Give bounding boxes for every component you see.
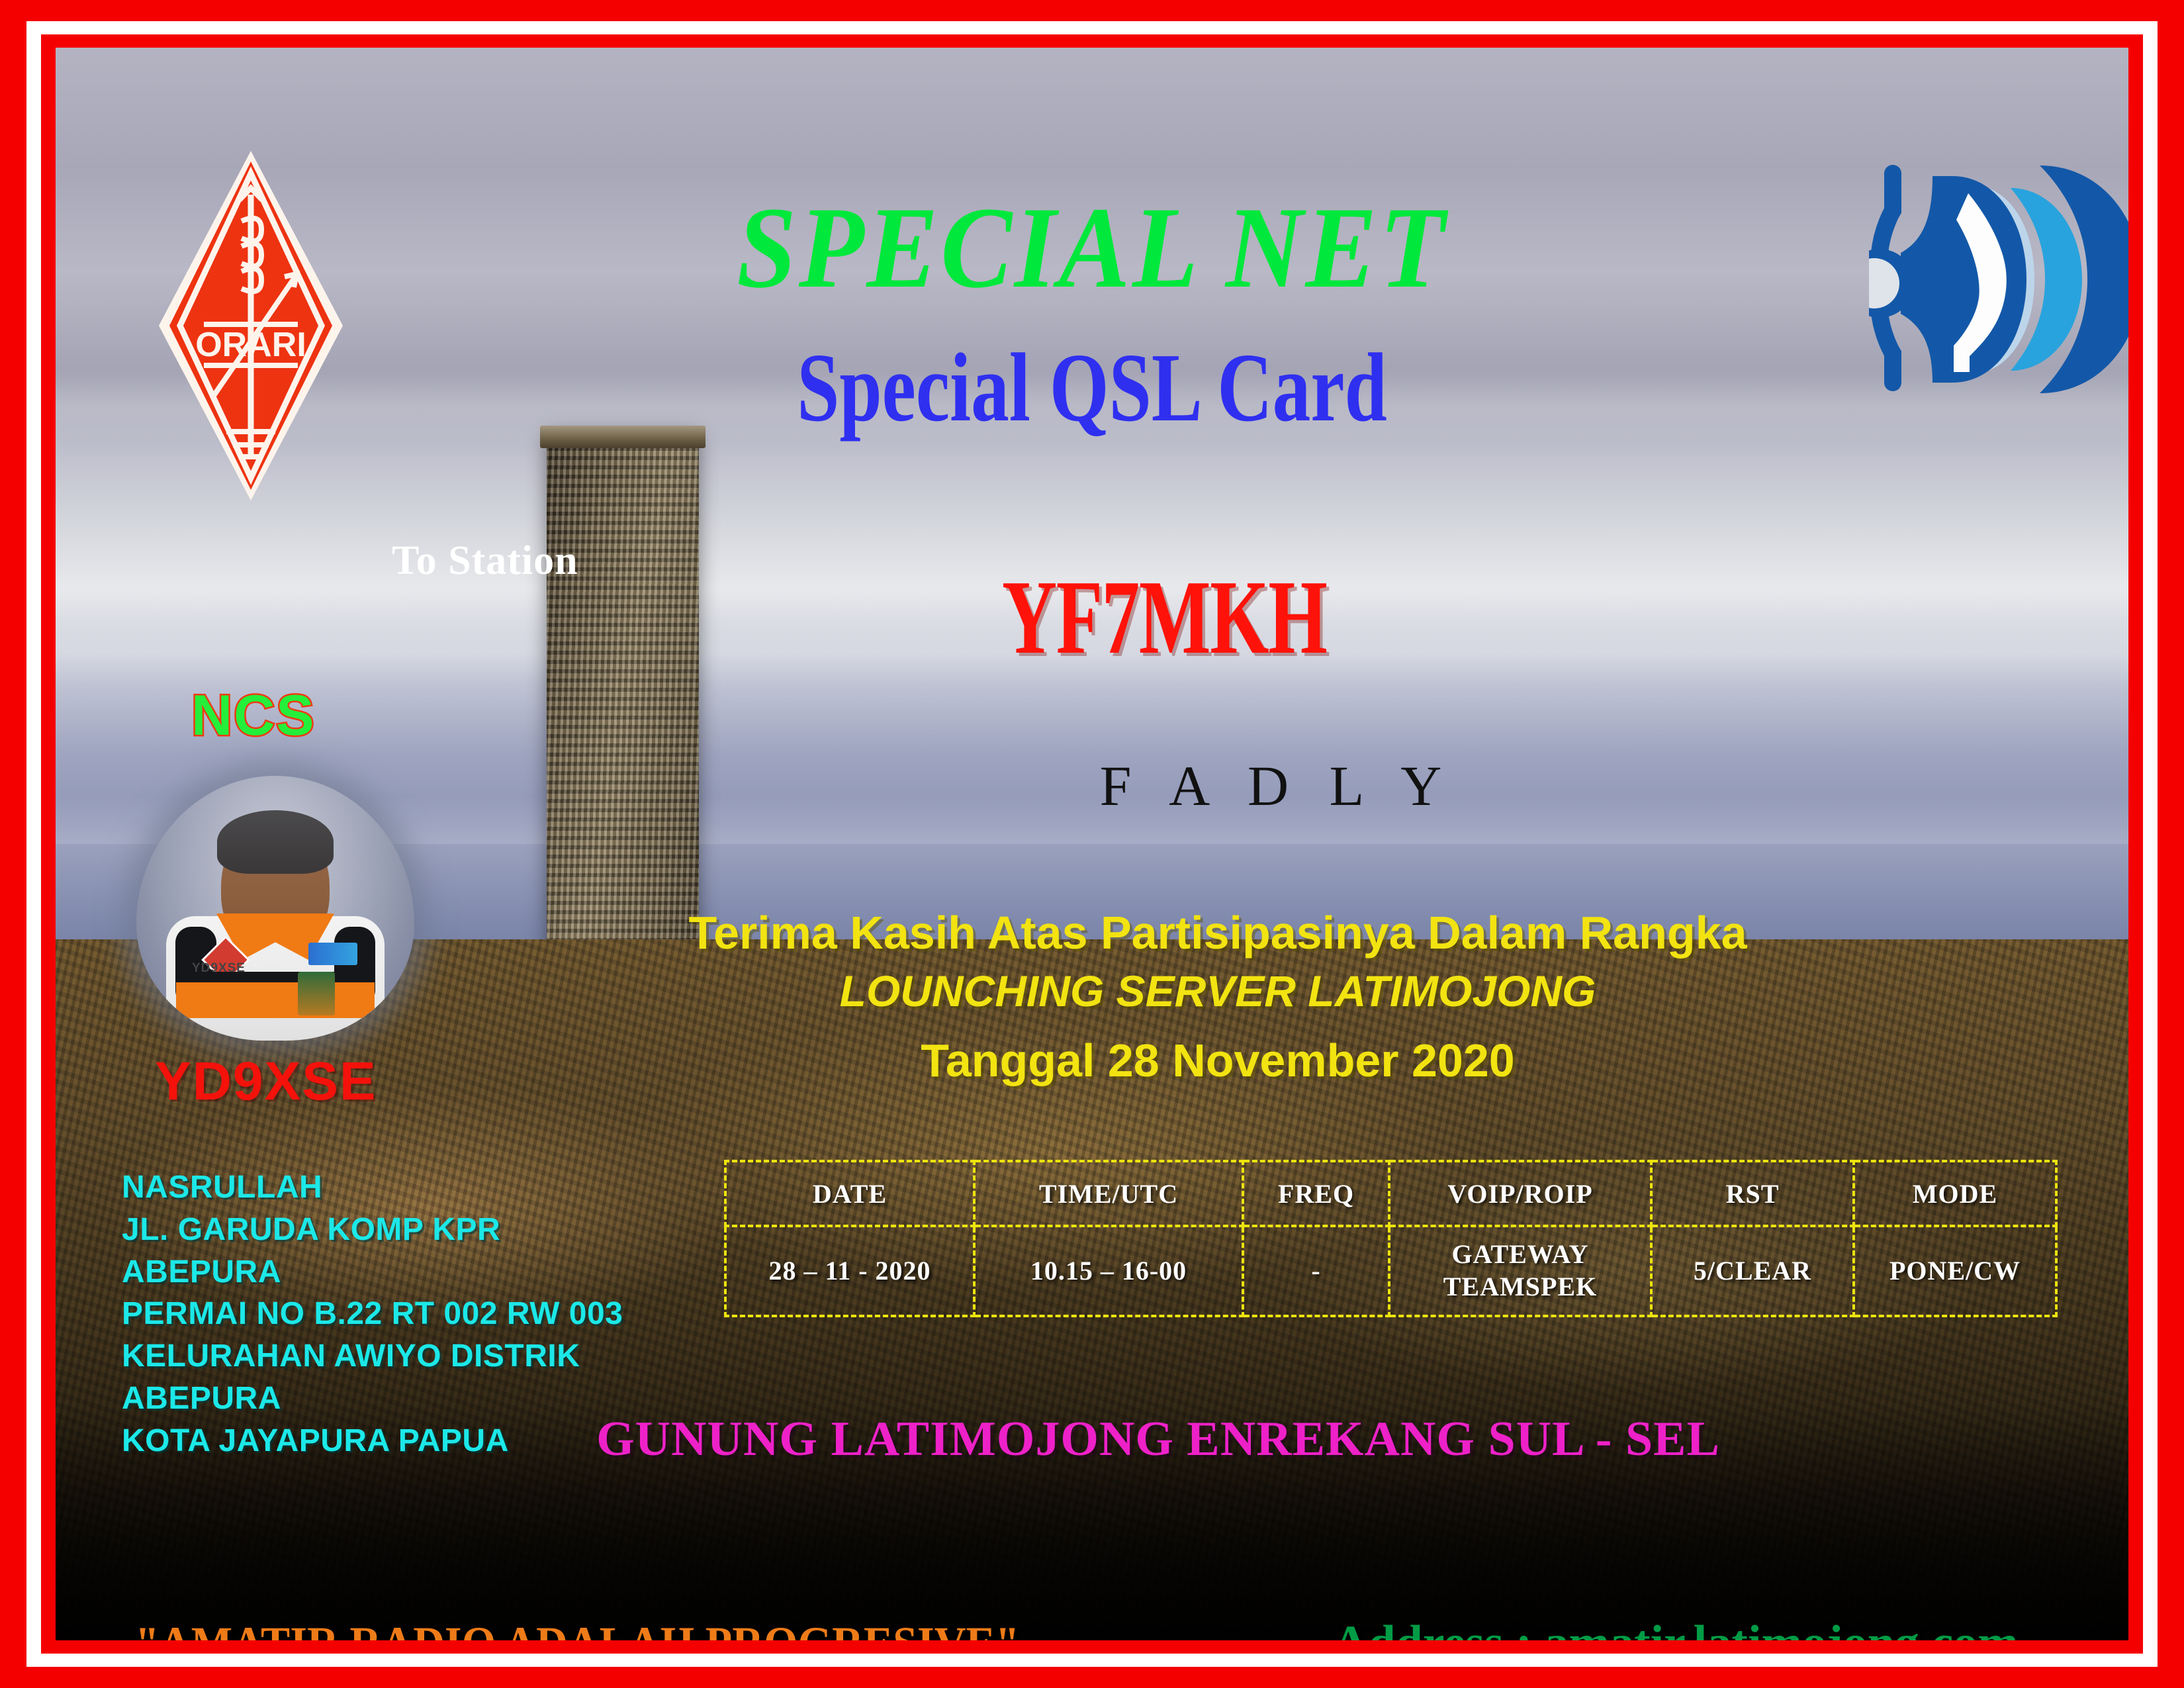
cell-mode: PONE/CW (1854, 1226, 2056, 1316)
portrait-chest-badge (308, 943, 357, 965)
column-header-time: TIME/UTC (974, 1161, 1243, 1226)
portrait-hair (217, 810, 334, 874)
operator-name: F A D L Y (56, 753, 2128, 819)
address-line: NASRULLAH (122, 1166, 623, 1209)
cell-date: 28 – 11 - 2020 (725, 1226, 974, 1316)
page-subtitle-special-qsl: Special QSL Card (284, 339, 1901, 437)
cell-time: 10.15 – 16-00 (974, 1226, 1243, 1316)
station-callsign: YF7MKH (1002, 564, 1326, 670)
column-header-freq: FREQ (1243, 1161, 1389, 1226)
column-header-date: DATE (725, 1161, 974, 1226)
cell-voip-roip-line1: GATEWAY (1391, 1239, 1649, 1271)
portrait-shirt-callsign: YD9XSE (192, 961, 246, 976)
ncs-label: NCS (191, 683, 316, 749)
cell-voip-roip: GATEWAY TEAMSPEK (1389, 1226, 1651, 1316)
address-line: ABEPURA (122, 1251, 623, 1293)
address-line: JL. GARUDA KOMP KPR (122, 1209, 623, 1251)
cell-rst: 5/CLEAR (1651, 1226, 1854, 1316)
portrait-id-card (298, 972, 335, 1015)
content-layer: ORARI SPECIAL NET Special QSL Card To St… (56, 48, 2128, 1640)
cell-voip-roip-line2: TEAMSPEK (1391, 1271, 1649, 1303)
address-line: PERMAI NO B.22 RT 002 RW 003 (122, 1293, 623, 1335)
address-line: KELURAHAN AWIYO DISTRIK (122, 1335, 623, 1378)
card-photo-background: ORARI SPECIAL NET Special QSL Card To St… (56, 48, 2128, 1640)
table-row: 28 – 11 - 2020 10.15 – 16-00 - GATEWAY T… (725, 1226, 2056, 1316)
motto-text: "AMATIR RADIO ADALAH PROGRESIVE" (135, 1617, 1020, 1640)
page-title-special-net: SPECIAL NET (138, 190, 2045, 306)
thanks-line-1: Terima Kasih Atas Partisipasinya Dalam R… (307, 908, 2128, 957)
table-header-row: DATE TIME/UTC FREQ VOIP/ROIP RST MODE (725, 1161, 2056, 1226)
thanks-line-2: LOUNCHING SERVER LATIMOJONG (307, 957, 2128, 1025)
qso-data-table: DATE TIME/UTC FREQ VOIP/ROIP RST MODE 28… (724, 1160, 2058, 1317)
column-header-rst: RST (1651, 1161, 1854, 1226)
qsl-card: ORARI SPECIAL NET Special QSL Card To St… (0, 0, 2184, 1688)
to-station-label: To Station (392, 538, 578, 585)
cell-freq: - (1243, 1226, 1389, 1316)
column-header-mode: MODE (1854, 1161, 2056, 1226)
location-line: GUNUNG LATIMOJONG ENREKANG SUL - SEL (56, 1411, 2128, 1468)
thanks-line-3: Tanggal 28 November 2020 (307, 1025, 2128, 1097)
column-header-voip-roip: VOIP/ROIP (1389, 1161, 1651, 1226)
portrait-sash (176, 982, 375, 1018)
web-address-text: Address : amatir.latimojong.com (1333, 1615, 2019, 1640)
ncs-callsign: YD9XSE (155, 1051, 377, 1113)
